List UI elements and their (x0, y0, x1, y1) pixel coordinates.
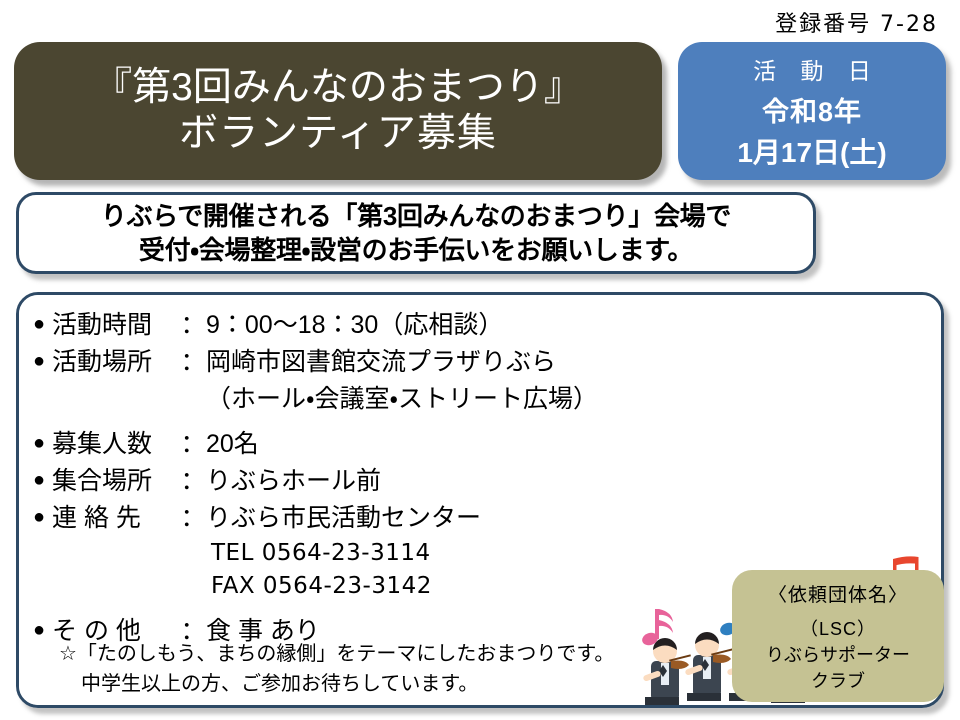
description-box: りぶらで開催される「第3回みんなのおまつり」会場で 受付・会場整理・設営のお手伝… (16, 192, 816, 274)
requesting-organisation-box: 〈依頼団体名〉 （LSC） りぶらサポーター クラブ (732, 570, 944, 702)
organisation-line-3: クラブ (811, 667, 865, 693)
detail-label-contact: 連 絡 先 (52, 500, 180, 537)
bullet-icon: ● (33, 613, 52, 648)
title-line-1: 『第3回みんなのおまつり』 (93, 65, 583, 111)
bullet-icon: ● (33, 307, 52, 342)
detail-label-activity-place: 活動場所 (52, 344, 180, 381)
bullet-icon: ● (33, 344, 52, 379)
activity-date-box: 活 動 日 令和8年 1月17日(土) (678, 42, 946, 180)
description-line-2: 受付・会場整理・設営のお手伝いをお願いします。 (139, 233, 693, 267)
bullet-icon: ● (33, 463, 52, 498)
detail-label-meeting-place: 集合場所 (52, 463, 180, 500)
bullet-icon: ● (33, 500, 52, 535)
detail-value-meeting-place: りぶらホール前 (206, 463, 381, 500)
registration-number: 登録番号 7-28 (775, 6, 938, 38)
organisation-title: 〈依頼団体名〉 (768, 580, 908, 607)
detail-colon: ： (180, 307, 206, 344)
title-line-2: ボランティア募集 (179, 111, 497, 157)
activity-date-year: 令和8年 (762, 90, 862, 129)
detail-label-activity-time: 活動時間 (52, 307, 180, 344)
detail-colon: ： (180, 426, 206, 463)
description-line-1: りぶらで開催される「第3回みんなのおまつり」会場で (101, 199, 731, 233)
activity-date-label: 活 動 日 (744, 52, 880, 86)
detail-row-meeting-place: ● 集合場所 ： りぶらホール前 (33, 463, 653, 500)
organisation-line-2: りぶらサポーター (766, 641, 910, 667)
detail-colon: ： (180, 344, 206, 381)
detail-label-capacity: 募集人数 (52, 426, 180, 463)
detail-value-fax: FAX 0564-23-3142 (33, 570, 653, 604)
detail-value-activity-place: 岡崎市図書館交流プラザりぶら (206, 344, 556, 381)
flyer-page: 登録番号 7-28 『第3回みんなのおまつり』 ボランティア募集 活 動 日 令… (0, 0, 960, 720)
detail-row-activity-time: ● 活動時間 ： 9：00〜18：30（応相談） (33, 307, 653, 344)
bullet-icon: ● (33, 426, 52, 461)
organisation-line-1: （LSC） (800, 615, 876, 641)
title-box: 『第3回みんなのおまつり』 ボランティア募集 (14, 42, 662, 180)
detail-value-capacity: 20名 (206, 426, 259, 463)
detail-value-tel: TEL 0564-23-3114 (33, 537, 653, 571)
detail-row-activity-place: ● 活動場所 ： 岡崎市図書館交流プラザりぶら (33, 344, 653, 381)
detail-value-contact: りぶら市民活動センター (206, 500, 481, 537)
footnote: ☆「たのしもう、まちの縁側」をテーマにしたおまつりです。 中学生以上の方、ご参加… (59, 639, 659, 700)
activity-date-day: 1月17日(土) (737, 131, 886, 171)
detail-value-venue-sub: （ホール・会議室・ストリート広場） (33, 381, 653, 418)
detail-colon: ： (180, 463, 206, 500)
footnote-line-2: 中学生以上の方、ご参加お待ちしています。 (59, 669, 659, 699)
detail-colon: ： (180, 500, 206, 537)
details-list: ● 活動時間 ： 9：00〜18：30（応相談） ● 活動場所 ： 岡崎市図書館… (33, 307, 653, 650)
detail-row-capacity: ● 募集人数 ： 20名 (33, 426, 653, 463)
footnote-line-1: ☆「たのしもう、まちの縁側」をテーマにしたおまつりです。 (59, 639, 659, 669)
detail-row-contact: ● 連 絡 先 ： りぶら市民活動センター (33, 500, 653, 537)
detail-value-activity-time: 9：00〜18：30（応相談） (206, 307, 503, 344)
